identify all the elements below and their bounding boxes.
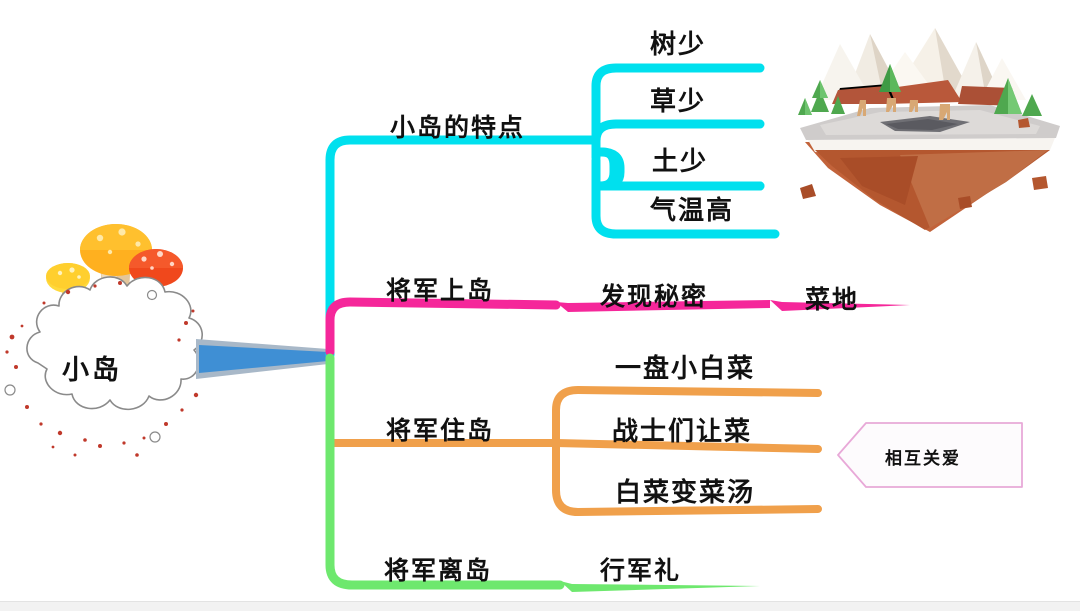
- leaf-label-vegetable-field[interactable]: 菜地: [805, 280, 859, 316]
- branch-lines: [0, 0, 1080, 610]
- mindmap-canvas: 小岛: [0, 0, 1080, 610]
- callout-shape: [0, 0, 1080, 610]
- floating-island-illustration: [0, 0, 1080, 610]
- blue-arrow-connector: [0, 0, 1080, 610]
- branch-label-general-arrives[interactable]: 将军上岛: [386, 271, 494, 307]
- leaf-label-cabbage-becomes-soup[interactable]: 白菜变菜汤: [615, 472, 755, 509]
- leaf-label-few-grass[interactable]: 草少: [650, 81, 706, 118]
- callout-label[interactable]: 相互关爱: [885, 444, 961, 469]
- root-label: 小岛: [62, 348, 122, 387]
- leaf-label-plate-of-cabbage[interactable]: 一盘小白菜: [615, 348, 755, 385]
- root-cloud-bubble: [0, 0, 1080, 610]
- leaf-label-soldiers-yield-cabbage[interactable]: 战士们让菜: [612, 411, 752, 448]
- mushrooms-illustration: [0, 0, 1080, 610]
- leaf-label-discover-secret[interactable]: 发现秘密: [600, 277, 708, 313]
- branch-label-general-stays[interactable]: 将军住岛: [386, 411, 494, 447]
- leaf-label-little-soil[interactable]: 土少: [652, 141, 708, 178]
- leaf-label-military-salute[interactable]: 行军礼: [600, 551, 681, 587]
- branch-label-features[interactable]: 小岛的特点: [390, 108, 525, 144]
- branch-label-general-leaves[interactable]: 将军离岛: [384, 551, 492, 587]
- leaf-label-few-trees[interactable]: 树少: [650, 24, 706, 61]
- leaf-label-high-temperature[interactable]: 气温高: [650, 190, 734, 227]
